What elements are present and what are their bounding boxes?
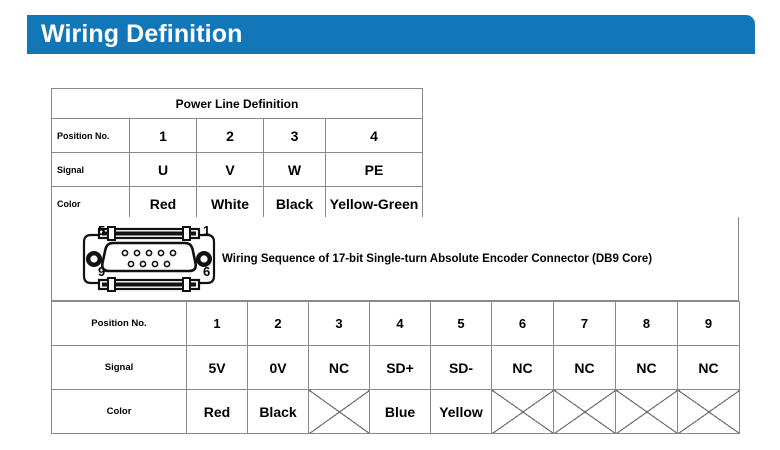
power-position-3: 3 <box>264 119 326 153</box>
power-position-2: 2 <box>197 119 264 153</box>
power-line-definition-table: Power Line Definition Position No. 1 2 3… <box>51 88 423 221</box>
row-label-signal: Signal <box>52 153 130 187</box>
connector-illustration-band: 5 1 9 6 Wiring Sequence of 17-bit Single… <box>51 217 739 301</box>
encoder-color-9-empty <box>678 390 740 434</box>
table-row-color: Color Red Black Blue Yellow <box>52 390 740 434</box>
power-signal-1: U <box>130 153 197 187</box>
row-label-signal: Signal <box>52 346 187 390</box>
db9-pin-label-bottom-left: 9 <box>98 264 105 279</box>
encoder-color-1: Red <box>187 390 248 434</box>
encoder-position-9: 9 <box>678 302 740 346</box>
row-label-color: Color <box>52 390 187 434</box>
encoder-signal-8: NC <box>616 346 678 390</box>
table-row-signal: Signal 5V 0V NC SD+ SD- NC NC NC NC <box>52 346 740 390</box>
encoder-wiring-table: Position No. 1 2 3 4 5 6 7 8 9 Signal 5V… <box>51 301 740 434</box>
table-row-position: Position No. 1 2 3 4 5 6 7 8 9 <box>52 302 740 346</box>
encoder-signal-3: NC <box>309 346 370 390</box>
row-label-position: Position No. <box>52 119 130 153</box>
encoder-position-6: 6 <box>492 302 554 346</box>
row-label-color: Color <box>52 187 130 221</box>
table-row-signal: Signal U V W PE <box>52 153 423 187</box>
encoder-position-1: 1 <box>187 302 248 346</box>
power-position-4: 4 <box>326 119 423 153</box>
power-table-title: Power Line Definition <box>52 89 423 119</box>
power-color-4: Yellow-Green <box>326 187 423 221</box>
power-position-1: 1 <box>130 119 197 153</box>
db9-pin-label-top-left: 5 <box>98 223 105 238</box>
encoder-signal-6: NC <box>492 346 554 390</box>
encoder-signal-4: SD+ <box>370 346 431 390</box>
table-row-title: Power Line Definition <box>52 89 423 119</box>
encoder-color-5: Yellow <box>431 390 492 434</box>
table-row-position: Position No. 1 2 3 4 <box>52 119 423 153</box>
encoder-color-4: Blue <box>370 390 431 434</box>
encoder-color-7-empty <box>554 390 616 434</box>
page-header-banner: Wiring Definition <box>27 15 755 54</box>
power-signal-3: W <box>264 153 326 187</box>
encoder-position-3: 3 <box>309 302 370 346</box>
db9-pin-label-bottom-right: 6 <box>203 264 210 279</box>
power-signal-2: V <box>197 153 264 187</box>
power-signal-4: PE <box>326 153 423 187</box>
encoder-color-2: Black <box>248 390 309 434</box>
power-color-3: Black <box>264 187 326 221</box>
encoder-position-7: 7 <box>554 302 616 346</box>
encoder-color-8-empty <box>616 390 678 434</box>
encoder-position-8: 8 <box>616 302 678 346</box>
encoder-signal-2: 0V <box>248 346 309 390</box>
page-title: Wiring Definition <box>41 19 242 48</box>
db9-pin-label-top-right: 1 <box>203 223 210 238</box>
encoder-color-6-empty <box>492 390 554 434</box>
encoder-signal-1: 5V <box>187 346 248 390</box>
encoder-color-3-empty <box>309 390 370 434</box>
encoder-position-5: 5 <box>431 302 492 346</box>
encoder-position-4: 4 <box>370 302 431 346</box>
power-color-1: Red <box>130 187 197 221</box>
encoder-signal-7: NC <box>554 346 616 390</box>
power-color-2: White <box>197 187 264 221</box>
row-label-position: Position No. <box>52 302 187 346</box>
illustration-caption: Wiring Sequence of 17-bit Single-turn Ab… <box>222 253 652 265</box>
encoder-signal-5: SD- <box>431 346 492 390</box>
encoder-signal-9: NC <box>678 346 740 390</box>
encoder-position-2: 2 <box>248 302 309 346</box>
table-row-color: Color Red White Black Yellow-Green <box>52 187 423 221</box>
